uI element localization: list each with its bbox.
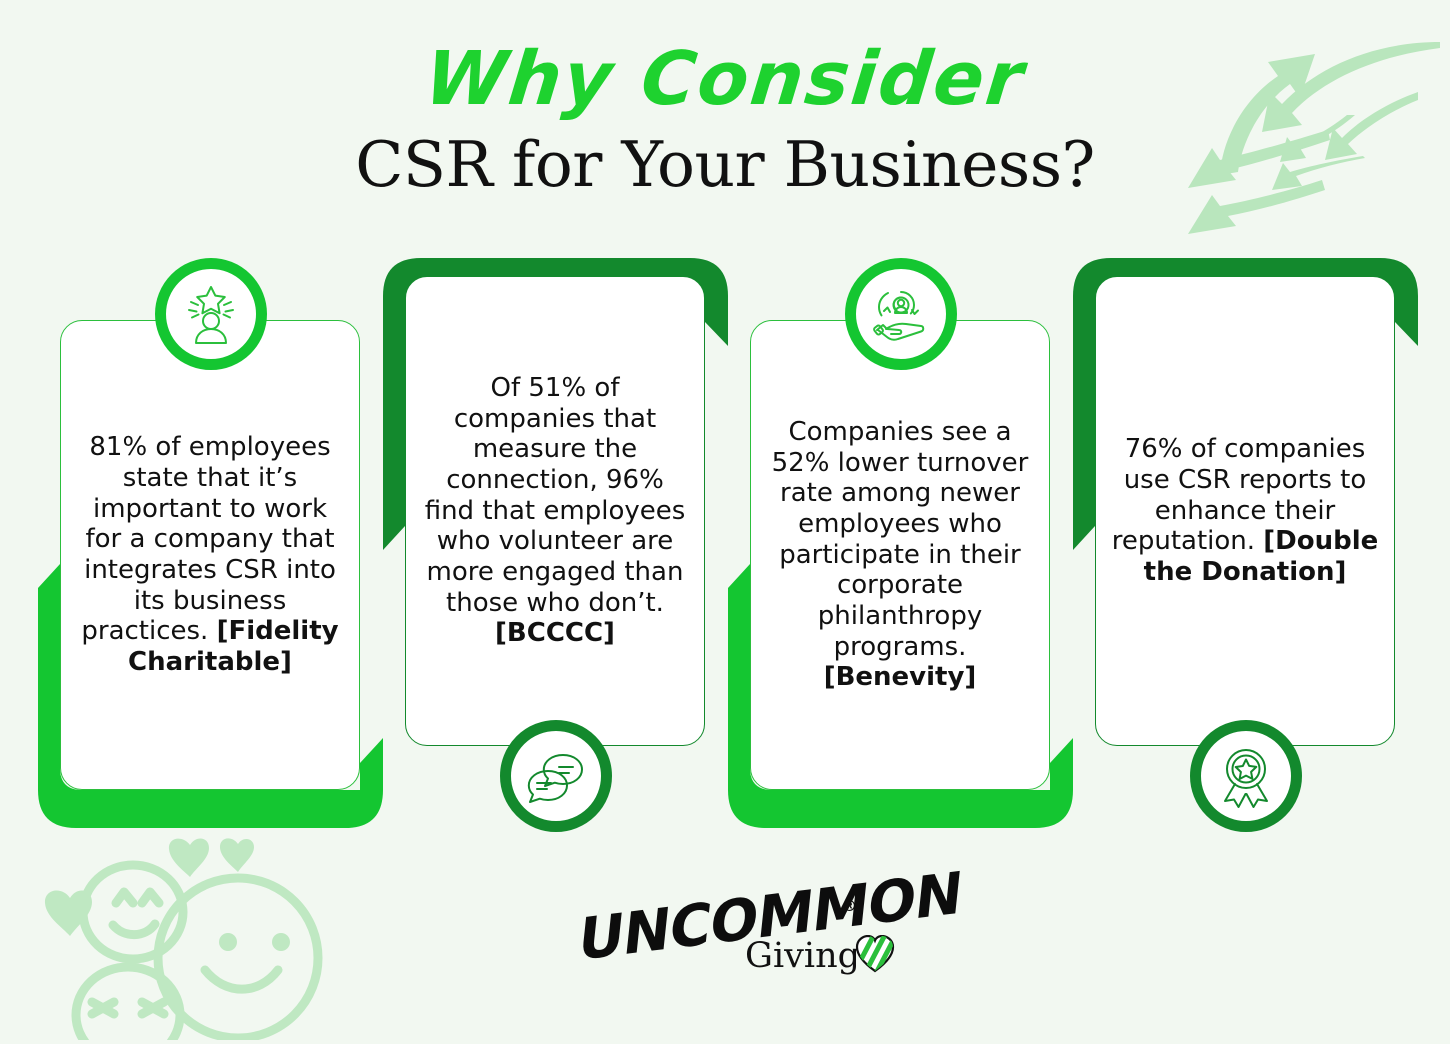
card-source-3: [Benevity] xyxy=(824,662,977,692)
hand-retention-icon-badge-3 xyxy=(845,258,957,370)
card-statement-1: 81% of employees state that it’s importa… xyxy=(81,432,336,646)
card-body-3: Companies see a 52% lower turnover rate … xyxy=(750,320,1050,790)
card-body-2: Of 51% of companies that measure the con… xyxy=(405,276,705,746)
striped-heart-icon xyxy=(855,935,895,977)
stat-card-1: 81% of employees state that it’s importa… xyxy=(38,258,383,828)
infographic-canvas: Why Consider CSR for Your Business? 81% … xyxy=(0,0,1450,1040)
card-text-1: 81% of employees state that it’s importa… xyxy=(61,432,359,677)
logo-submark: Giving xyxy=(745,939,860,974)
stat-card-4: 76% of companies use CSR reports to enha… xyxy=(1073,258,1418,828)
logo-registered-mark: ® xyxy=(842,897,857,915)
card-body-1: 81% of employees state that it’s importa… xyxy=(60,320,360,790)
person-star-icon-badge-1 xyxy=(155,258,267,370)
page-title: CSR for Your Business? xyxy=(0,132,1450,198)
card-statement-3: Companies see a 52% lower turnover rate … xyxy=(772,417,1029,662)
page-title-script: Why Consider xyxy=(0,42,1450,116)
stat-card-2: Of 51% of companies that measure the con… xyxy=(383,258,728,828)
card-text-3: Companies see a 52% lower turnover rate … xyxy=(751,417,1049,693)
card-text-4: 76% of companies use CSR reports to enha… xyxy=(1096,434,1394,587)
card-body-4: 76% of companies use CSR reports to enha… xyxy=(1095,276,1395,746)
person-star-icon xyxy=(178,281,244,347)
speech-bubbles-icon xyxy=(523,743,589,809)
stats-card-row: 81% of employees state that it’s importa… xyxy=(38,258,1418,828)
stat-card-3: Companies see a 52% lower turnover rate … xyxy=(728,258,1073,828)
award-ribbon-icon-badge-4 xyxy=(1190,720,1302,832)
speech-bubbles-icon-badge-2 xyxy=(500,720,612,832)
uncommon-giving-logo: UNCOMMON ® Giving xyxy=(0,878,1450,998)
award-ribbon-icon xyxy=(1213,743,1279,809)
hand-retention-icon xyxy=(868,281,934,347)
card-statement-2: Of 51% of companies that measure the con… xyxy=(425,373,686,618)
card-text-2: Of 51% of companies that measure the con… xyxy=(406,373,704,649)
card-source-2: [BCCCC] xyxy=(495,618,615,648)
